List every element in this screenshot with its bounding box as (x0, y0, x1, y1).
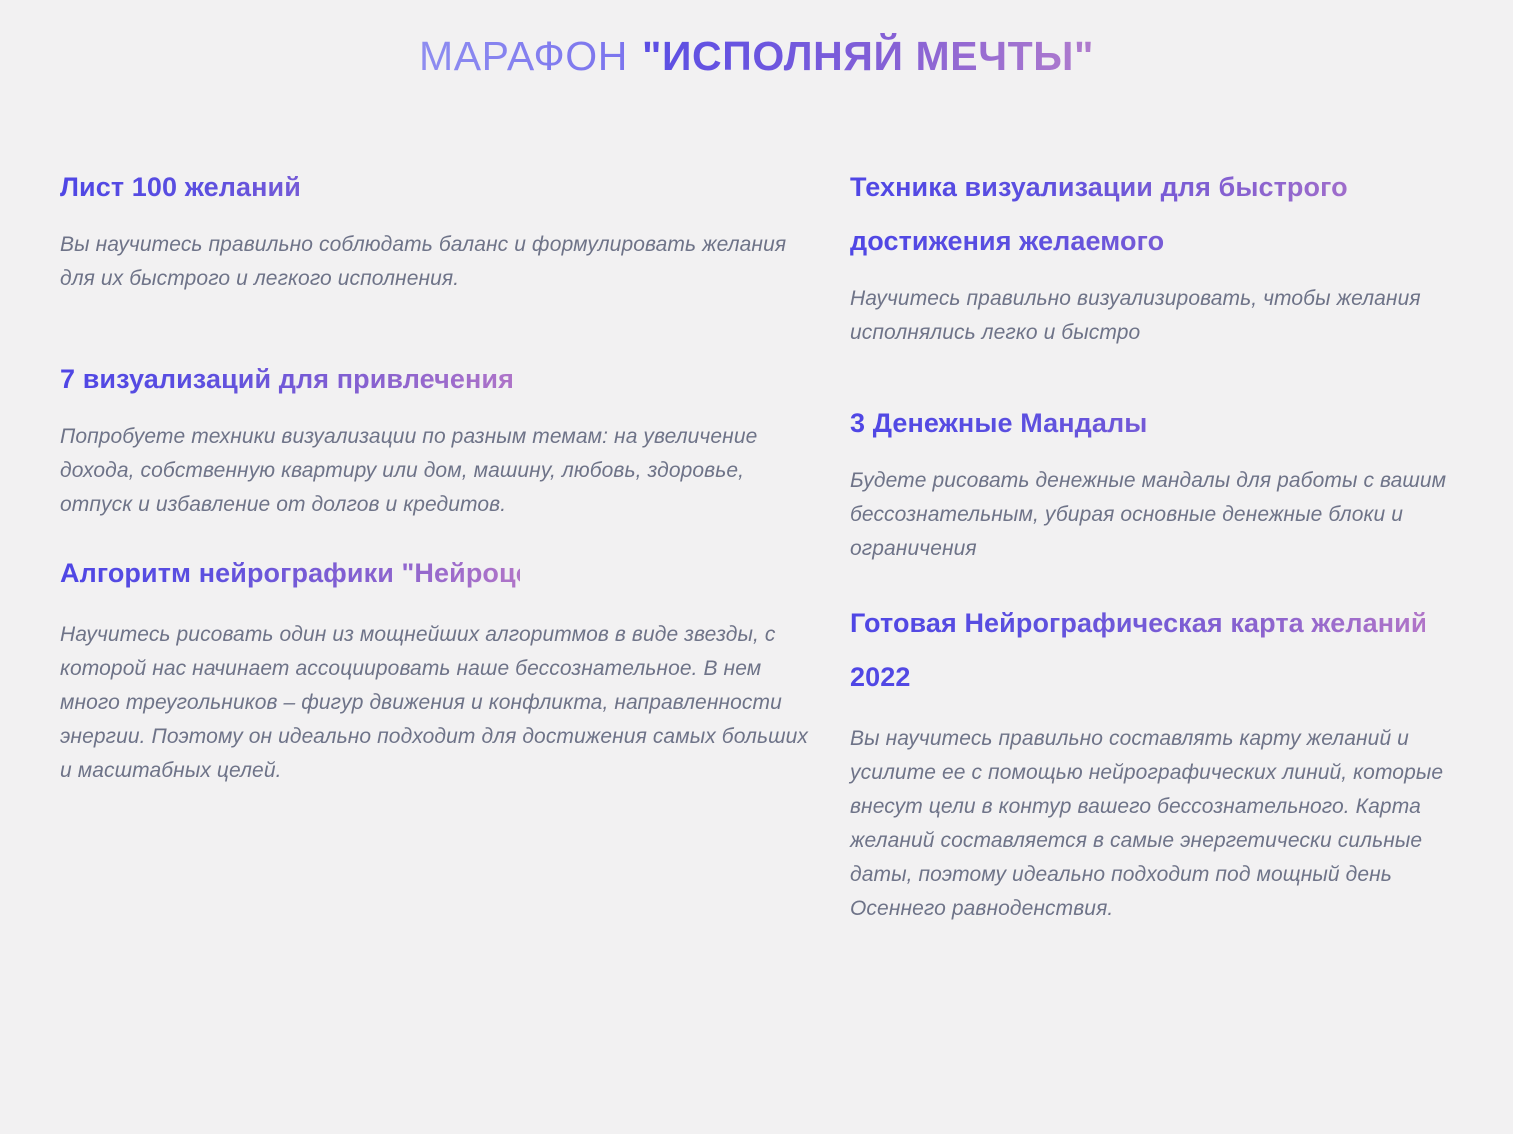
feature-block: Лист 100 желаний Вы научитесь правильно … (60, 160, 820, 296)
features-columns: Лист 100 желаний Вы научитесь правильно … (0, 160, 1513, 1134)
page-title: МАРАФОН"ИСПОЛНЯЙ МЕЧТЫ" (0, 30, 1513, 82)
feature-block: 7 визуализаций для привлечения желаемого… (60, 352, 820, 522)
feature-heading: Готовая Нейрографическая карта желаний 2… (850, 596, 1465, 704)
feature-block: Готовая Нейрографическая карта желаний 2… (850, 596, 1465, 926)
feature-block: 3 Денежные Мандалы Будете рисовать денеж… (850, 396, 1465, 566)
landing-page: МАРАФОН"ИСПОЛНЯЙ МЕЧТЫ" Лист 100 желаний… (0, 0, 1513, 1134)
page-title-bold: "ИСПОЛНЯЙ МЕЧТЫ" (642, 30, 1094, 82)
feature-description: Научитесь рисовать один из мощнейших алг… (60, 618, 820, 788)
feature-description: Вы научитесь правильно соблюдать баланс … (60, 228, 820, 296)
feature-heading: 7 визуализаций для привлечения желаемого (60, 352, 820, 406)
features-column-left: Лист 100 желаний Вы научитесь правильно … (60, 160, 850, 1134)
page-title-light: МАРАФОН (419, 30, 628, 82)
feature-heading: 3 Денежные Мандалы (850, 396, 1465, 450)
feature-heading: Алгоритм нейрографики "Нейроцель" (60, 546, 820, 600)
feature-description: Вы научитесь правильно составлять карту … (850, 722, 1465, 926)
feature-description: Будете рисовать денежные мандалы для раб… (850, 464, 1465, 566)
feature-description: Попробуете техники визуализации по разны… (60, 420, 820, 522)
feature-description: Научитесь правильно визуализировать, что… (850, 282, 1465, 350)
feature-heading: Техника визуализации для быстрого достиж… (850, 160, 1465, 268)
features-column-right: Техника визуализации для быстрого достиж… (850, 160, 1465, 1134)
feature-block: Алгоритм нейрографики "Нейроцель" Научит… (60, 546, 820, 788)
feature-block: Техника визуализации для быстрого достиж… (850, 160, 1465, 350)
feature-heading: Лист 100 желаний (60, 160, 820, 214)
